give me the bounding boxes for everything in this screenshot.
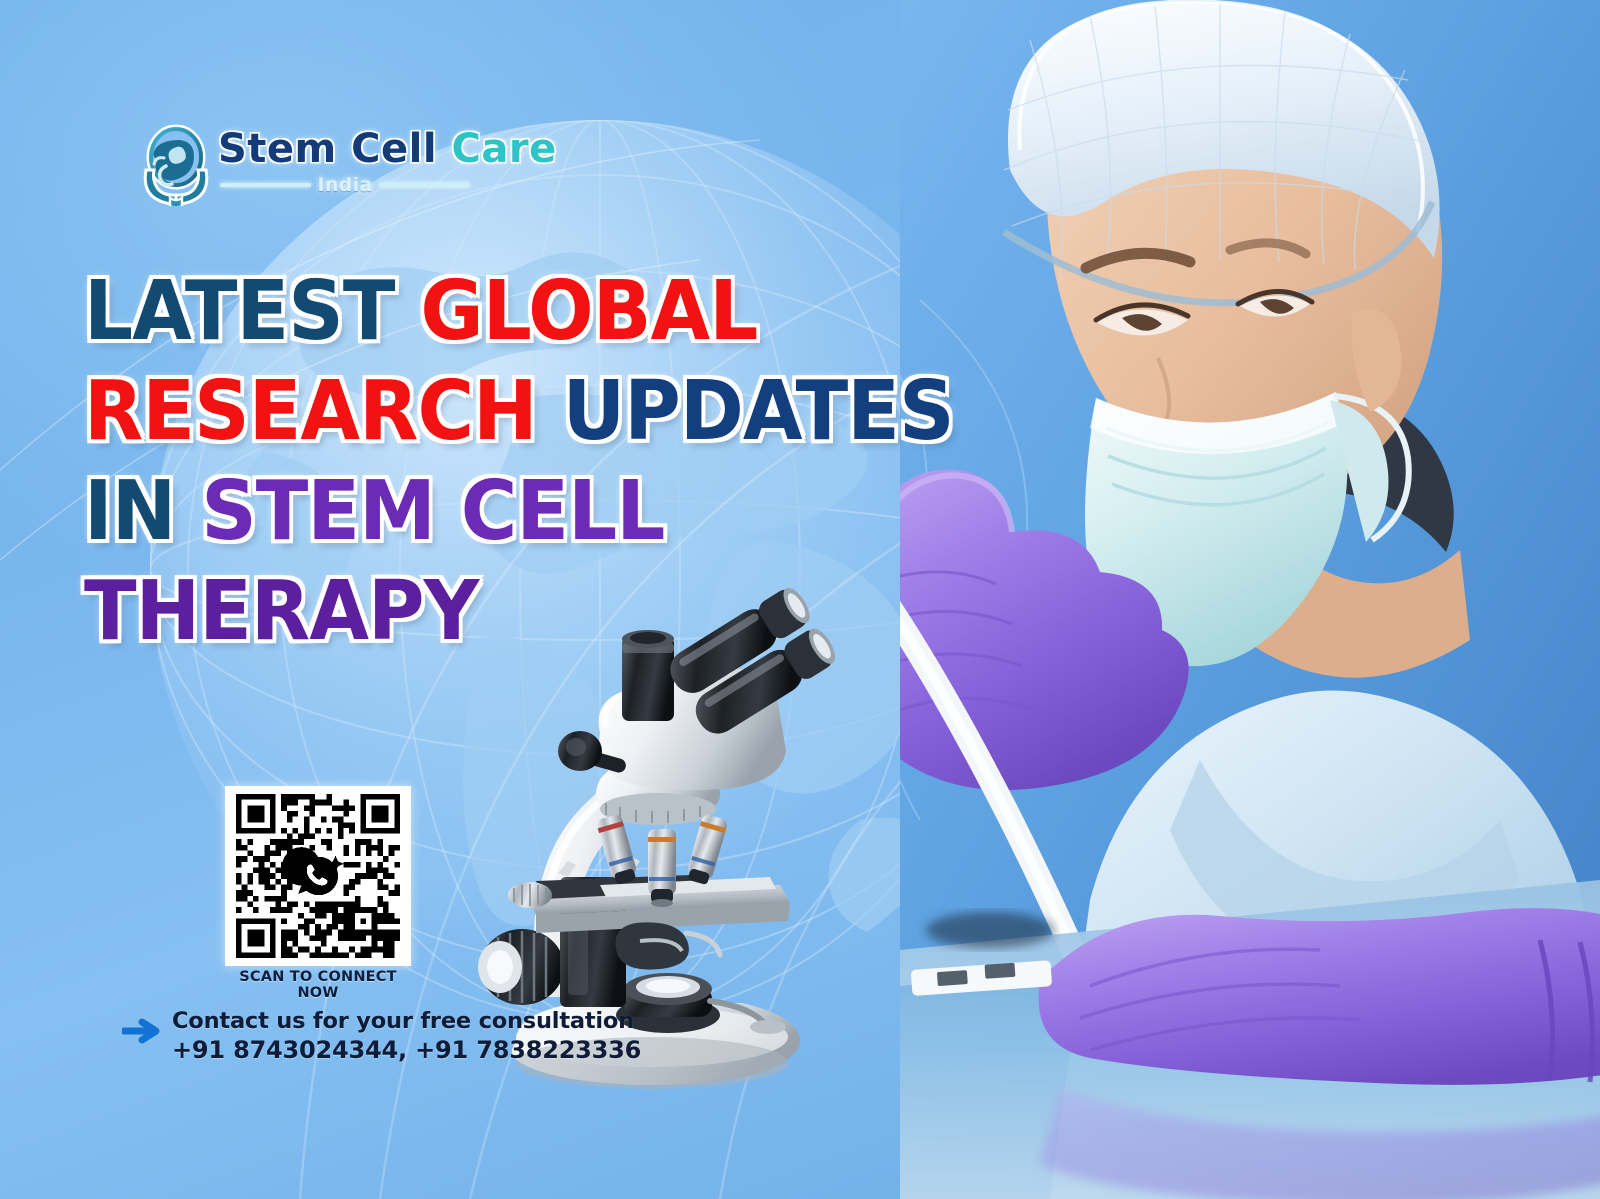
headline: LATEST GLOBAL RESEARCH UPDATES IN STEM C… <box>84 262 984 662</box>
headline-word-in: IN <box>84 464 201 559</box>
arrow-right-icon <box>122 1018 162 1044</box>
qr-block[interactable]: SCAN TO CONNECT NOW <box>225 786 411 1001</box>
embryo-in-hands-logo-icon <box>140 124 212 206</box>
qr-code-matrix <box>233 794 403 958</box>
contact-phones: +91 8743024344, +91 7838223336 <box>172 1036 602 1064</box>
rule-left <box>220 183 311 187</box>
headline-line-2: RESEARCH UPDATES <box>84 362 930 462</box>
brand-name-part2: Care <box>452 126 557 172</box>
contact-headline: Contact us for your free consultation <box>172 1008 602 1034</box>
contact-block: Contact us for your free consultation +9… <box>122 1008 602 1064</box>
headline-word-research: RESEARCH <box>84 364 563 459</box>
poster-canvas: Stem Cell Care India LATEST GLOBAL RESEA… <box>0 0 1600 1199</box>
headline-word-updates: UPDATES <box>563 364 954 459</box>
headline-word-latest: LATEST <box>84 264 420 359</box>
qr-code[interactable] <box>225 786 411 966</box>
brand-name: Stem Cell Care <box>218 126 557 172</box>
qr-caption: SCAN TO CONNECT NOW <box>225 969 411 1001</box>
headline-line-4: THERAPY <box>84 562 930 662</box>
headline-word-therapy: THERAPY <box>84 564 478 659</box>
headline-line-1: LATEST GLOBAL <box>84 262 930 362</box>
scientist-photo <box>900 0 1600 1199</box>
headline-line-3: IN STEM CELL <box>84 462 930 562</box>
brand-name-part1: Stem Cell <box>218 126 452 172</box>
headline-word-global: GLOBAL <box>420 264 757 359</box>
brand-subtitle: India <box>317 174 372 196</box>
headline-word-stem-cell: STEM CELL <box>201 464 664 559</box>
brand-subtitle-row: India <box>220 172 470 198</box>
brand-logo[interactable]: Stem Cell Care India <box>140 122 470 212</box>
rule-right <box>379 183 470 187</box>
